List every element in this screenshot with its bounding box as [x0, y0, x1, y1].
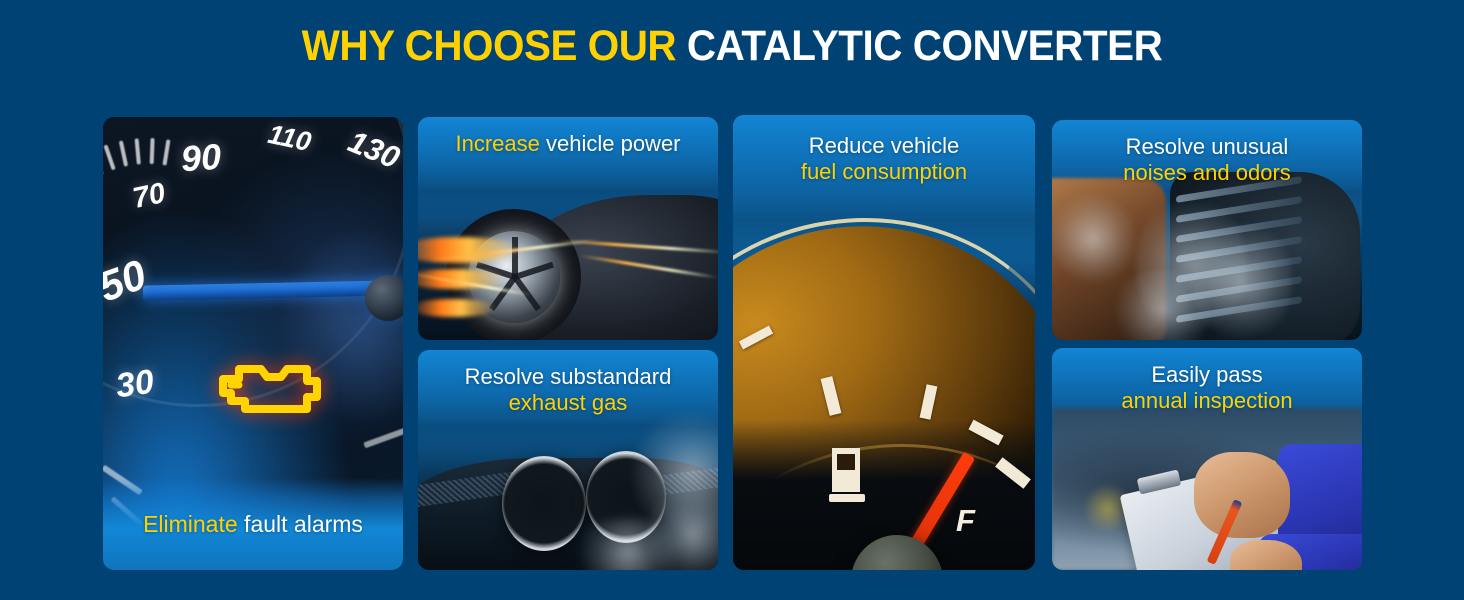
- feature-caption: Eliminate fault alarms: [143, 511, 363, 538]
- feature-card-increase-vehicle-power: Increase vehicle power: [418, 117, 718, 340]
- feature-caption-plain: vehicle power: [540, 131, 681, 156]
- card-caption-top: Increase vehicle power: [418, 117, 718, 157]
- feature-caption-line2: noises and odors: [1052, 160, 1362, 186]
- feature-caption-line1: Resolve unusual: [1052, 134, 1362, 160]
- page-title: WHY CHOOSE OUR CATALYTIC CONVERTER: [44, 22, 1420, 71]
- promo-banner: WHY CHOOSE OUR CATALYTIC CONVERTER: [0, 0, 1464, 600]
- feature-caption: Resolve substandard exhaust gas: [418, 364, 718, 415]
- card-caption-band: Eliminate fault alarms: [103, 478, 403, 570]
- card-caption-top: Reduce vehicle fuel consumption: [733, 115, 1035, 184]
- feature-caption-line2: fuel consumption: [733, 159, 1035, 185]
- card-caption-top: Resolve unusual noises and odors: [1052, 120, 1362, 185]
- page-title-highlight: WHY CHOOSE OUR: [302, 22, 676, 70]
- feature-caption-line1: Easily pass: [1052, 362, 1362, 388]
- check-engine-icon: [205, 347, 331, 429]
- feature-caption: Easily pass annual inspection: [1052, 362, 1362, 413]
- speedometer-number-70: 70: [130, 177, 168, 216]
- feature-caption: Reduce vehicle fuel consumption: [733, 133, 1035, 184]
- feature-caption-line2: exhaust gas: [418, 390, 718, 416]
- feature-card-resolve-noises-and-odors: Resolve unusual noises and odors: [1052, 120, 1362, 340]
- feature-card-eliminate-fault-alarms: 130 110 90 70 50 30 Eliminate fault alar…: [103, 117, 403, 570]
- feature-caption-highlight: Increase: [455, 131, 539, 156]
- feature-caption-line1: Resolve substandard: [418, 364, 718, 390]
- feature-caption-highlight: Eliminate: [143, 511, 238, 537]
- feature-card-reduce-fuel-consumption: F Reduce vehicle fuel consumption: [733, 115, 1035, 570]
- feature-caption-line2: annual inspection: [1052, 388, 1362, 414]
- speedometer-hub: [365, 275, 403, 321]
- speedometer-number-30: 30: [113, 363, 156, 407]
- gauge-full-label: F: [956, 503, 975, 539]
- feature-caption-plain: fault alarms: [238, 511, 363, 537]
- feature-caption: Resolve unusual noises and odors: [1052, 134, 1362, 185]
- feature-caption-line1: Reduce vehicle: [733, 133, 1035, 159]
- card-caption-top: Easily pass annual inspection: [1052, 348, 1362, 413]
- feature-card-resolve-substandard-exhaust-gas: Resolve substandard exhaust gas: [418, 350, 718, 570]
- card-caption-top: Resolve substandard exhaust gas: [418, 350, 718, 415]
- feature-card-easily-pass-annual-inspection: Easily pass annual inspection: [1052, 348, 1362, 570]
- page-title-plain: CATALYTIC CONVERTER: [687, 22, 1162, 70]
- speedometer-number-90: 90: [180, 136, 223, 181]
- feature-caption: Increase vehicle power: [418, 131, 718, 157]
- fuel-pump-icon: [829, 446, 865, 508]
